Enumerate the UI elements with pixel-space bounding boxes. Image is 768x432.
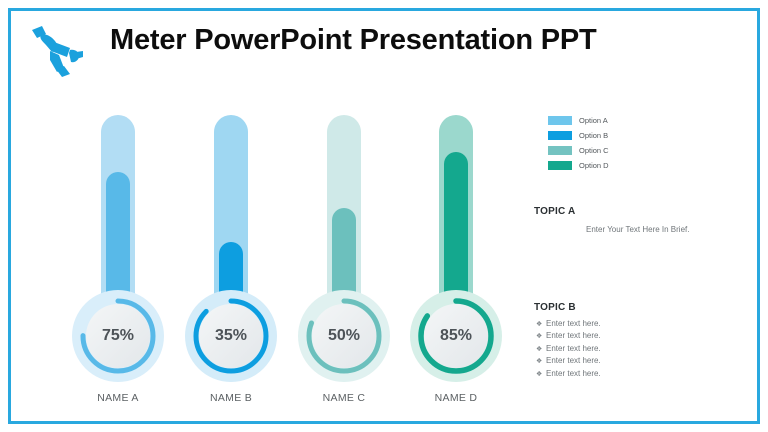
legend-swatch-icon bbox=[548, 161, 572, 170]
topic-b-block: TOPIC B ❖ Enter text here. ❖ Enter text … bbox=[534, 302, 754, 380]
thermometer-tube bbox=[400, 110, 512, 310]
gauge-value: 85% bbox=[410, 290, 502, 382]
diamond-bullet-icon: ❖ bbox=[536, 369, 546, 380]
legend-label: Option C bbox=[579, 146, 609, 155]
gauge-bulb: 85% bbox=[410, 290, 502, 382]
gauge-label: NAME B bbox=[175, 392, 287, 404]
topic-a-body: Enter Your Text Here In Brief. bbox=[586, 225, 754, 234]
meter-gauge: 50% NAME C bbox=[288, 110, 400, 385]
diamond-bullet-icon: ❖ bbox=[536, 319, 546, 330]
legend-label: Option A bbox=[579, 116, 608, 125]
gauge-bulb: 35% bbox=[185, 290, 277, 382]
legend-item: Option D bbox=[548, 158, 688, 172]
diamond-bullet-icon: ❖ bbox=[536, 356, 546, 367]
meter-gauge: 35% NAME B bbox=[175, 110, 287, 385]
legend-item: Option C bbox=[548, 143, 688, 157]
diamond-bullet-icon: ❖ bbox=[536, 344, 546, 355]
legend-label: Option D bbox=[579, 161, 609, 170]
list-item: ❖ Enter text here. bbox=[536, 330, 754, 342]
gauge-bulb: 75% bbox=[72, 290, 164, 382]
gauge-label: NAME D bbox=[400, 392, 512, 404]
gauge-label: NAME A bbox=[62, 392, 174, 404]
list-item: ❖ Enter text here. bbox=[536, 318, 754, 330]
list-item-label: Enter text here. bbox=[546, 355, 601, 366]
meter-gauge: 85% NAME D bbox=[400, 110, 512, 385]
legend-swatch-icon bbox=[548, 146, 572, 155]
legend-swatch-icon bbox=[548, 131, 572, 140]
diamond-bullet-icon: ❖ bbox=[536, 331, 546, 342]
list-item: ❖ Enter text here. bbox=[536, 355, 754, 367]
legend-label: Option B bbox=[579, 131, 608, 140]
gauge-value: 75% bbox=[72, 290, 164, 382]
meter-gauge: 75% NAME A bbox=[62, 110, 174, 385]
topic-b-list: ❖ Enter text here. ❖ Enter text here. ❖ … bbox=[536, 318, 754, 380]
topic-a-block: TOPIC A Enter Your Text Here In Brief. bbox=[534, 206, 754, 234]
list-item-label: Enter text here. bbox=[546, 368, 601, 379]
list-item-label: Enter text here. bbox=[546, 330, 601, 341]
gauge-label: NAME C bbox=[288, 392, 400, 404]
list-item: ❖ Enter text here. bbox=[536, 343, 754, 355]
gauge-value: 50% bbox=[298, 290, 390, 382]
list-item: ❖ Enter text here. bbox=[536, 368, 754, 380]
list-item-label: Enter text here. bbox=[546, 318, 601, 329]
list-item-label: Enter text here. bbox=[546, 343, 601, 354]
legend-swatch-icon bbox=[548, 116, 572, 125]
thermometer-tube bbox=[288, 110, 400, 310]
chart-legend: Option A Option B Option C Option D bbox=[548, 113, 688, 173]
thermometer-tube bbox=[175, 110, 287, 310]
legend-item: Option A bbox=[548, 113, 688, 127]
tube-fill bbox=[444, 152, 468, 310]
gauge-value: 35% bbox=[185, 290, 277, 382]
topic-a-heading: TOPIC A bbox=[534, 206, 754, 217]
thermometer-tube bbox=[62, 110, 174, 310]
slide-canvas: Meter PowerPoint Presentation PPT 75% NA… bbox=[0, 0, 768, 432]
gauge-bulb: 50% bbox=[298, 290, 390, 382]
legend-item: Option B bbox=[548, 128, 688, 142]
topic-b-heading: TOPIC B bbox=[534, 302, 754, 313]
